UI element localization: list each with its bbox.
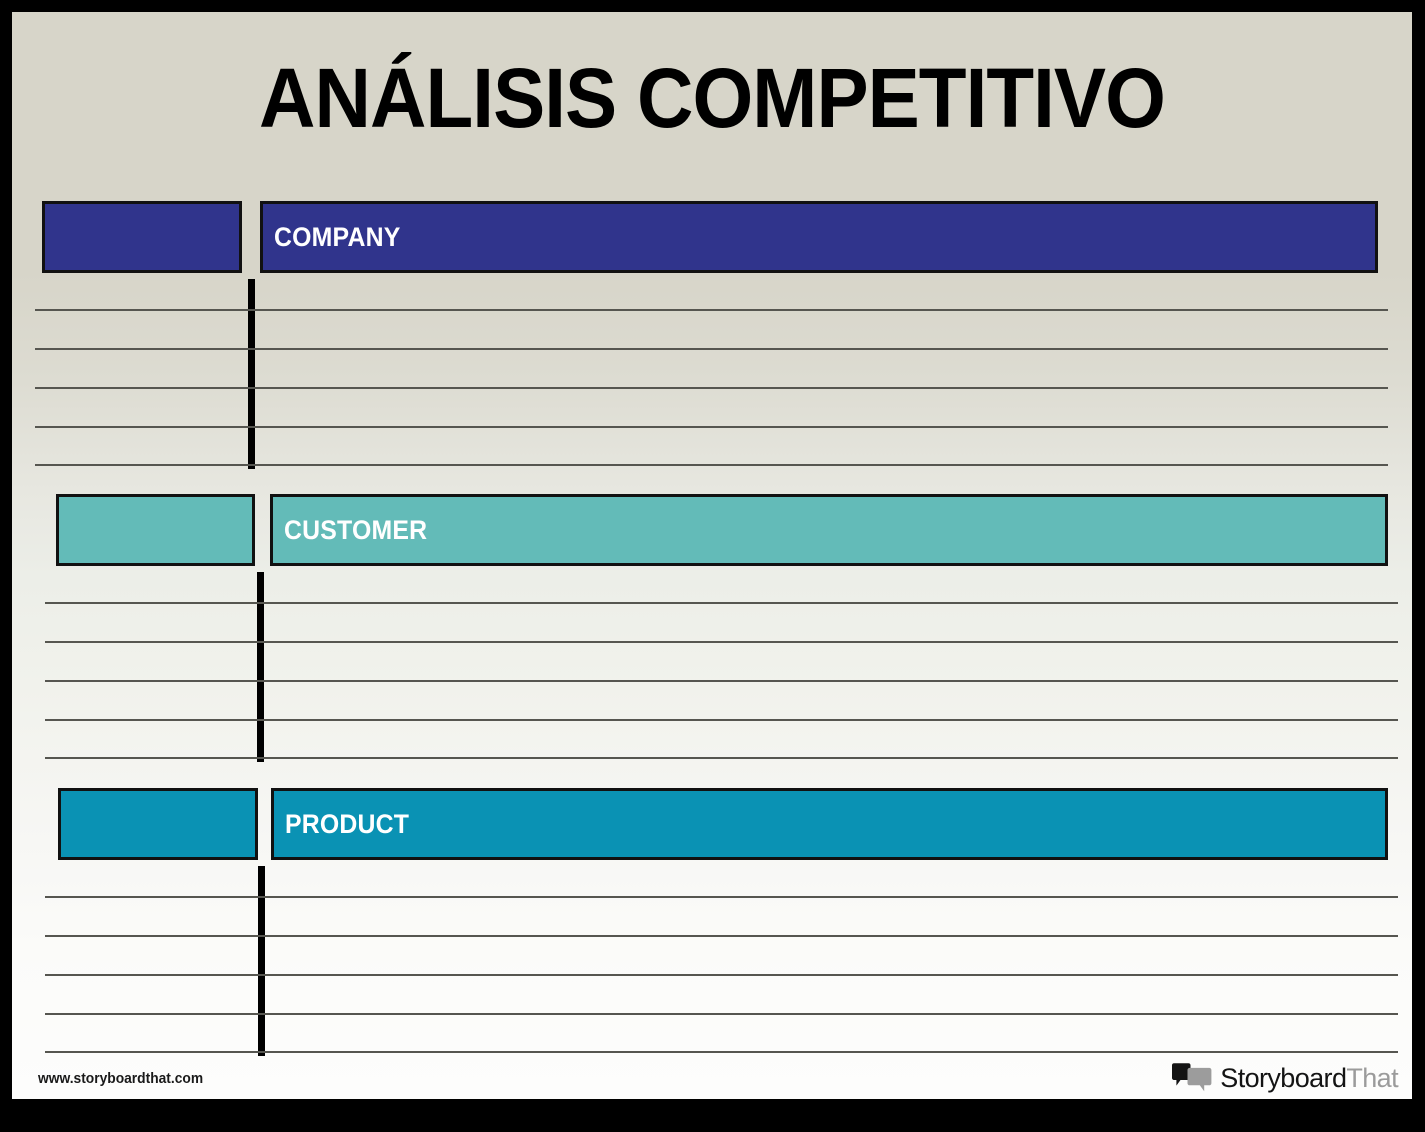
- poster-frame: ANÁLISIS COMPETITIVO COMPANY CUSTOMER: [0, 0, 1425, 1132]
- writing-line[interactable]: [45, 935, 1398, 937]
- writing-line[interactable]: [45, 757, 1398, 759]
- company-column-divider: [248, 279, 255, 469]
- writing-line[interactable]: [45, 719, 1398, 721]
- customer-header-bar[interactable]: CUSTOMER: [270, 494, 1388, 566]
- speech-bubbles-icon: [1171, 1063, 1213, 1093]
- writing-line[interactable]: [45, 641, 1398, 643]
- writing-line[interactable]: [35, 348, 1388, 350]
- product-header-bar[interactable]: PRODUCT: [271, 788, 1388, 860]
- writing-line[interactable]: [35, 387, 1388, 389]
- writing-line[interactable]: [35, 464, 1388, 466]
- writing-line[interactable]: [35, 426, 1388, 428]
- writing-line[interactable]: [45, 896, 1398, 898]
- customer-color-chip[interactable]: [56, 494, 255, 566]
- company-header-bar[interactable]: COMPANY: [260, 201, 1378, 273]
- customer-header-label: CUSTOMER: [273, 515, 427, 546]
- logo-word-storyboard: Storyboard: [1220, 1063, 1346, 1093]
- page-title: ANÁLISIS COMPETITIVO: [61, 56, 1363, 140]
- writing-line[interactable]: [35, 309, 1388, 311]
- logo-word-that: That: [1346, 1063, 1398, 1093]
- writing-line[interactable]: [45, 1013, 1398, 1015]
- footer-website-url[interactable]: www.storyboardthat.com: [38, 1070, 203, 1087]
- writing-line[interactable]: [45, 680, 1398, 682]
- storyboardthat-logo[interactable]: StoryboardThat: [1171, 1058, 1398, 1098]
- product-header-label: PRODUCT: [274, 809, 409, 840]
- company-color-chip[interactable]: [42, 201, 242, 273]
- writing-line[interactable]: [45, 1051, 1398, 1053]
- worksheet-page: ANÁLISIS COMPETITIVO COMPANY CUSTOMER: [12, 12, 1412, 1099]
- company-header-label: COMPANY: [263, 222, 400, 253]
- logo-wordmark: StoryboardThat: [1220, 1063, 1398, 1094]
- writing-line[interactable]: [45, 974, 1398, 976]
- writing-line[interactable]: [45, 602, 1398, 604]
- product-color-chip[interactable]: [58, 788, 258, 860]
- customer-column-divider: [257, 572, 264, 762]
- product-column-divider: [258, 866, 265, 1056]
